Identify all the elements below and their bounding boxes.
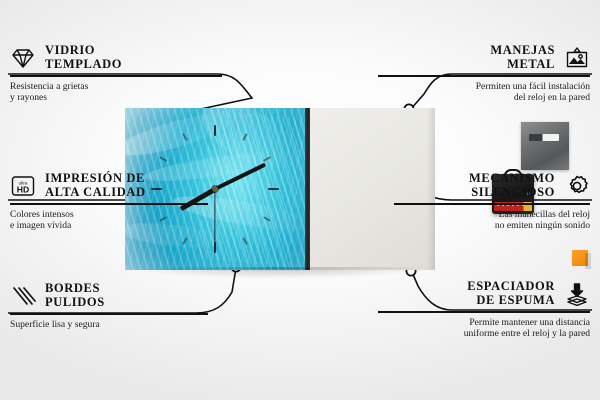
feature-polished-edges: BORDES PULIDOS Superficie lisa y segura — [10, 282, 238, 330]
feature-title-line1: BORDES — [45, 281, 100, 295]
feature-tempered-glass: VIDRIO TEMPLADO Resistencia a grietas y … — [10, 44, 238, 104]
feature-desc-line1: Permiten una fácil instalación — [476, 81, 590, 92]
feature-desc-line1: Resistencia a grietas — [10, 81, 88, 92]
divider — [378, 75, 590, 77]
feature-title-line2: PULIDOS — [45, 295, 105, 309]
diamond-icon — [10, 46, 36, 70]
feature-desc-line2: uniforme entre el reloj y la pared — [464, 328, 590, 339]
feature-title-line1: VIDRIO — [45, 43, 95, 57]
feature-title-line2: DE ESPUMA — [476, 293, 555, 307]
hanging-frame-icon — [564, 46, 590, 70]
feature-desc-line2: e imagen vívida — [10, 220, 71, 231]
feature-title-line1: ESPACIADOR — [467, 279, 555, 293]
hanger-slot — [529, 134, 559, 141]
foam-spacer-pad — [572, 250, 588, 266]
feature-foam-spacer: ESPACIADOR DE ESPUMA Permite mantener un… — [362, 280, 590, 340]
feature-title-line1: IMPRESIÓN DE — [45, 171, 145, 185]
svg-text:HD: HD — [17, 184, 29, 194]
feature-print-quality: ultra HD IMPRESIÓN DE ALTA CALIDAD Color… — [10, 172, 238, 232]
feature-title-line2: ALTA CALIDAD — [45, 185, 146, 199]
feature-title-line2: METAL — [507, 57, 555, 71]
feature-desc-line2: y rayones — [10, 92, 47, 103]
feature-silent-mechanism: MECANISMO SILENCIOSO Las manecillas del … — [362, 172, 590, 232]
feature-title-line2: TEMPLADO — [45, 57, 122, 71]
divider — [10, 203, 208, 205]
infographic-canvas: VIDRIO TEMPLADO Resistencia a grietas y … — [0, 0, 600, 400]
feature-desc-line2: del reloj en la pared — [514, 92, 590, 103]
feature-desc-line1: Las manecillas del reloj — [499, 209, 590, 220]
feature-desc-line1: Permite mantener una distancia — [469, 317, 590, 328]
feature-desc-line1: Colores intensos — [10, 209, 74, 220]
feature-desc-line1: Superficie lisa y segura — [10, 319, 100, 330]
foam-spacer-icon — [564, 282, 590, 306]
metal-hanger-plate — [521, 122, 569, 170]
feature-title-line1: MECANISMO — [469, 171, 555, 185]
feature-title-line2: SILENCIOSO — [471, 185, 555, 199]
divider — [378, 311, 590, 313]
feature-desc-line2: no emiten ningún sonido — [495, 220, 590, 231]
ultra-hd-badge-icon: ultra HD — [10, 174, 36, 198]
feature-title-line1: MANEJAS — [490, 43, 555, 57]
divider — [10, 75, 222, 77]
diagonal-lines-icon — [10, 284, 36, 308]
gear-icon — [564, 174, 590, 198]
feature-metal-handles: MANEJAS METAL Permiten una fácil instala… — [362, 44, 590, 104]
divider — [394, 203, 590, 205]
divider — [10, 313, 208, 315]
